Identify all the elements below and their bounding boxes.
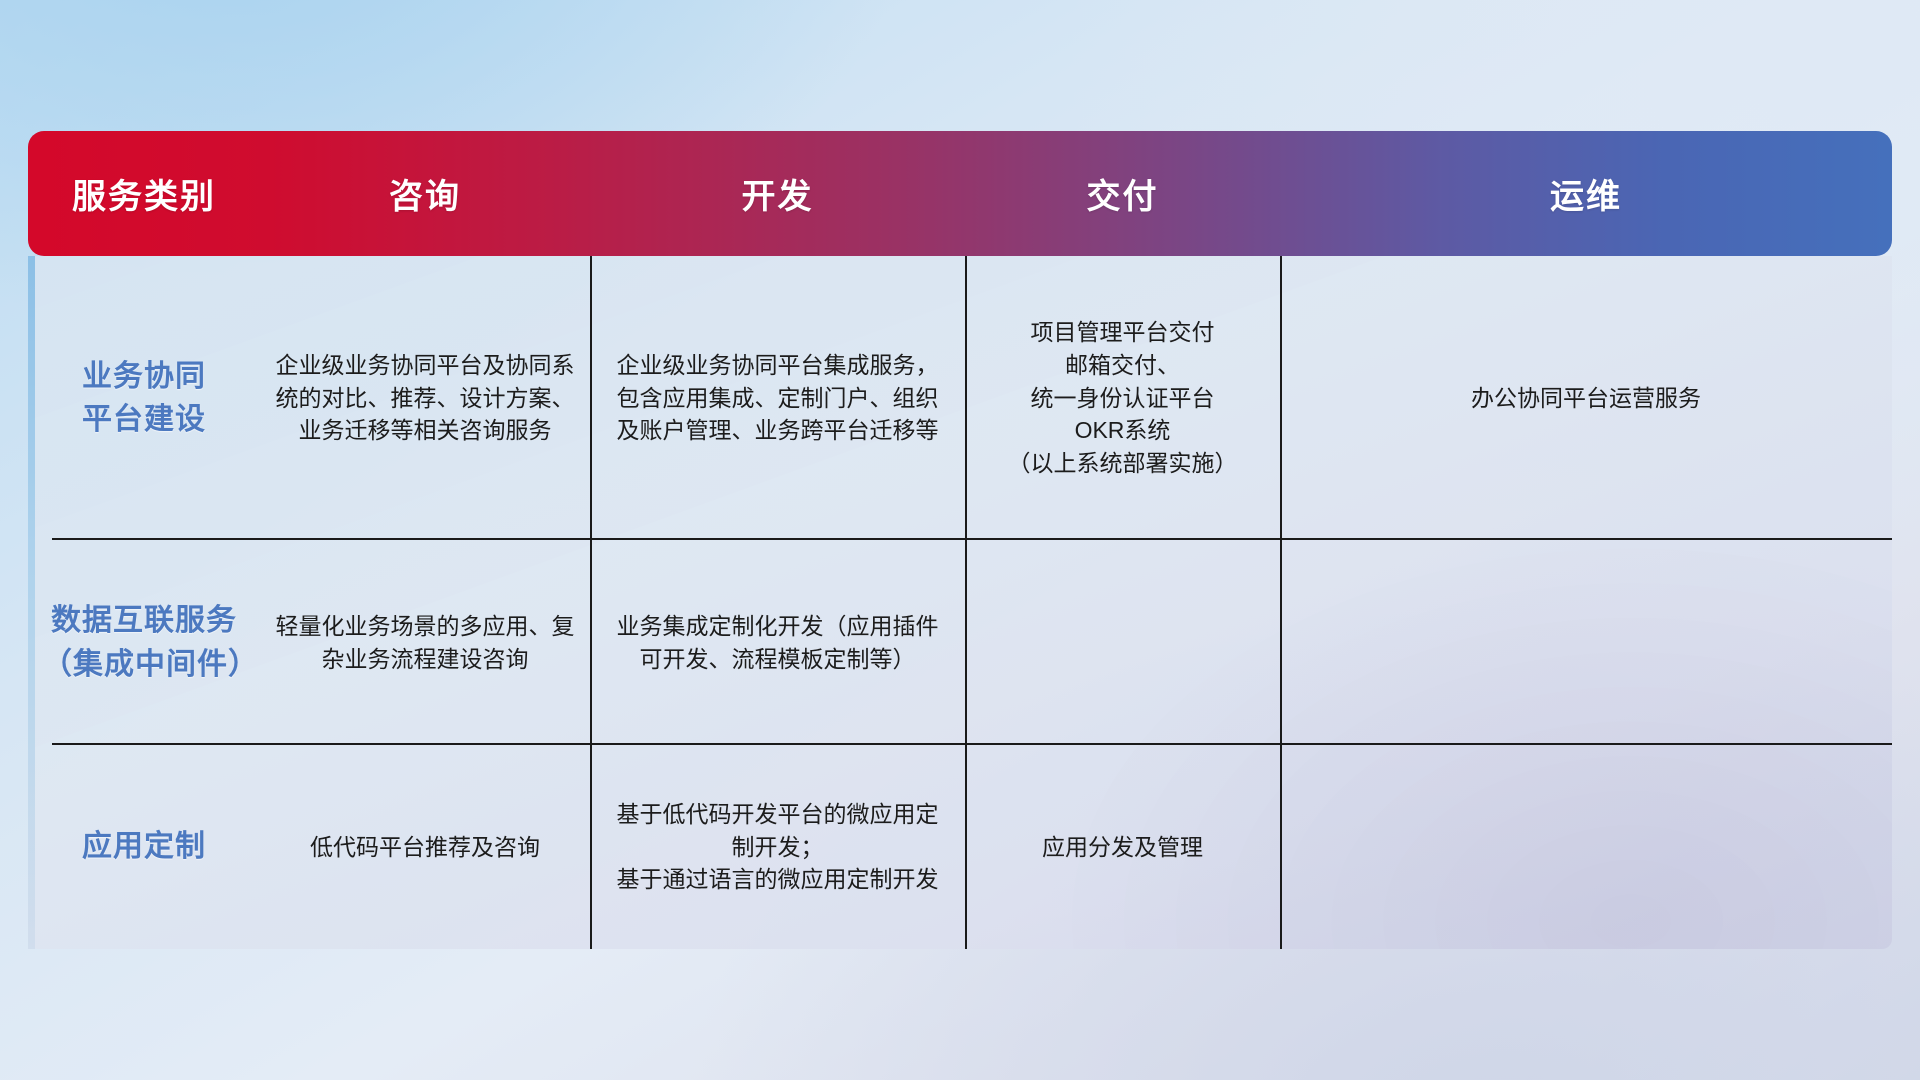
- cell-operations: [1280, 540, 1892, 745]
- row-category-label: 数据互联服务 （集成中间件）: [28, 540, 260, 745]
- cell-development: 业务集成定制化开发（应用插件 可开发、流程模板定制等）: [590, 540, 965, 745]
- cell-delivery: 应用分发及管理: [965, 745, 1280, 949]
- column-header-operations: 运维: [1280, 131, 1892, 256]
- cell-operations: [1280, 745, 1892, 949]
- cell-development: 企业级业务协同平台集成服务， 包含应用集成、定制门户、组织 及账户管理、业务跨平…: [590, 256, 965, 540]
- cell-consulting: 低代码平台推荐及咨询: [260, 745, 590, 949]
- column-header-consulting: 咨询: [260, 131, 590, 256]
- cell-delivery: 项目管理平台交付 邮箱交付、 统一身份认证平台 OKR系统 （以上系统部署实施）: [965, 256, 1280, 540]
- cell-consulting: 轻量化业务场景的多应用、复 杂业务流程建设咨询: [260, 540, 590, 745]
- table-row: 应用定制 低代码平台推荐及咨询 基于低代码开发平台的微应用定 制开发； 基于通过…: [28, 745, 1892, 949]
- column-header-development: 开发: [590, 131, 965, 256]
- table-row: 数据互联服务 （集成中间件） 轻量化业务场景的多应用、复 杂业务流程建设咨询 业…: [28, 540, 1892, 745]
- cell-consulting: 企业级业务协同平台及协同系 统的对比、推荐、设计方案、 业务迁移等相关咨询服务: [260, 256, 590, 540]
- table-row: 业务协同 平台建设 企业级业务协同平台及协同系 统的对比、推荐、设计方案、 业务…: [28, 256, 1892, 540]
- column-header-service-category: 服务类别: [28, 131, 260, 256]
- table-body: 业务协同 平台建设 企业级业务协同平台及协同系 统的对比、推荐、设计方案、 业务…: [28, 256, 1892, 949]
- cell-development: 基于低代码开发平台的微应用定 制开发； 基于通过语言的微应用定制开发: [590, 745, 965, 949]
- cell-delivery: [965, 540, 1280, 745]
- row-category-label: 业务协同 平台建设: [28, 256, 260, 540]
- slide-canvas: 服务类别 咨询 开发 交付 运维 业务协同 平台建设 企业级业务协同平台及协同系…: [0, 0, 1920, 1080]
- column-header-delivery: 交付: [965, 131, 1280, 256]
- service-matrix-table: 服务类别 咨询 开发 交付 运维 业务协同 平台建设 企业级业务协同平台及协同系…: [28, 131, 1892, 949]
- row-category-label: 应用定制: [28, 745, 260, 949]
- cell-operations: 办公协同平台运营服务: [1280, 256, 1892, 540]
- table-header-row: 服务类别 咨询 开发 交付 运维: [28, 131, 1892, 256]
